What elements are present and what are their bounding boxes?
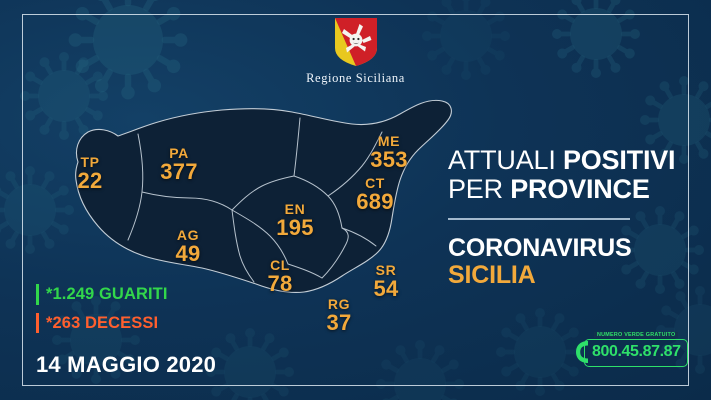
province-abbr: AG [166, 228, 210, 242]
province-value: 377 [152, 161, 206, 183]
province-abbr: PA [152, 146, 206, 160]
phone-number: 800.45.87.87 [592, 343, 681, 361]
province-label-ag: AG 49 [166, 228, 210, 265]
headline-line-2: PER PROVINCE [448, 175, 678, 204]
headline-sicilia: SICILIA [448, 262, 678, 290]
headline-divider [448, 218, 630, 220]
province-abbr: EN [268, 202, 322, 216]
province-value: 353 [362, 149, 416, 171]
province-abbr: RG [317, 297, 361, 311]
logo-caption: Regione Siciliana [0, 71, 711, 86]
headline-per: PER [448, 174, 503, 204]
headline-coronavirus: CORONAVIRUS [448, 235, 678, 263]
province-label-me: ME 353 [362, 134, 416, 171]
province-value: 78 [258, 273, 302, 295]
stat-recovered: *1.249 GUARITI [36, 284, 168, 305]
green-number-badge[interactable]: NUMERO VERDE GRATUITO 800.45.87.87 [570, 330, 688, 372]
province-label-cl: CL 78 [258, 258, 302, 295]
phone-caption: NUMERO VERDE GRATUITO [594, 332, 678, 338]
province-label-sr: SR 54 [364, 263, 408, 300]
province-abbr: ME [362, 134, 416, 148]
province-value: 37 [317, 312, 361, 334]
province-value: 22 [68, 170, 112, 192]
infographic-canvas: Regione Siciliana [0, 0, 711, 400]
province-value: 195 [268, 217, 322, 239]
province-abbr: SR [364, 263, 408, 277]
phone-handset-icon [575, 340, 590, 364]
province-abbr: CL [258, 258, 302, 272]
province-value: 54 [364, 278, 408, 300]
province-label-pa: PA 377 [152, 146, 206, 183]
province-abbr: TP [68, 155, 112, 169]
province-value: 49 [166, 243, 210, 265]
stats-block: *1.249 GUARITI *263 DECESSI [36, 284, 168, 341]
headline-panel: ATTUALI POSITIVI PER PROVINCE CORONAVIRU… [448, 146, 678, 290]
headline-province: PROVINCE [510, 174, 649, 204]
headline-attuali: ATTUALI [448, 145, 556, 175]
headline-positivi: POSITIVI [563, 145, 675, 175]
province-label-rg: RG 37 [317, 297, 361, 334]
province-abbr: CT [348, 176, 402, 190]
date-label: 14 MAGGIO 2020 [36, 352, 216, 378]
province-label-ct: CT 689 [348, 176, 402, 213]
province-value: 689 [348, 191, 402, 213]
province-label-en: EN 195 [268, 202, 322, 239]
stat-deaths: *263 DECESSI [36, 313, 168, 334]
trinacria-shield-icon [332, 16, 380, 68]
regione-siciliana-logo-block: Regione Siciliana [0, 16, 711, 86]
province-label-tp: TP 22 [68, 155, 112, 192]
headline-line-1: ATTUALI POSITIVI [448, 146, 678, 175]
